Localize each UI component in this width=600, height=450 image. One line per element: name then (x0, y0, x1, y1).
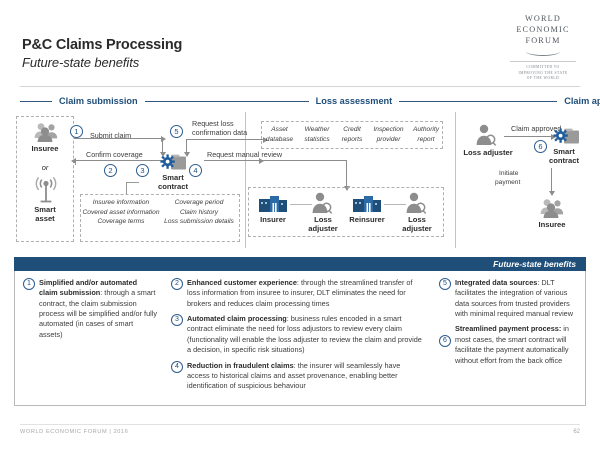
footer-page-number: 62 (573, 429, 580, 435)
loss-adjuster-label-2: Loss adjuster (394, 216, 440, 233)
confirm-coverage-label: Confirm coverage (86, 150, 143, 159)
contract-term-left-2: Covered asset information (82, 208, 160, 218)
benefit-title-5: Integrated data sources (455, 278, 537, 287)
loss-adjuster-label: Loss adjuster (300, 216, 346, 233)
approval-loss-adjuster-icon (474, 124, 498, 146)
benefit-item-3: 3 Automated claim processing: business r… (171, 314, 425, 355)
approval-insuree-label: Insuree (524, 221, 580, 230)
request-loss-down-arrow (186, 139, 187, 153)
contract-term-left-3: Coverage terms (82, 217, 160, 227)
reinsurer-label: Reinsurer (344, 216, 390, 225)
benefit-title-3: Automated claim processing (187, 314, 287, 323)
process-diagram: Insuree or Smart asset 1 Submit claim 5 … (8, 112, 592, 248)
approval-loss-adjuster-label: Loss adjuster (460, 149, 516, 158)
insurer-building-icon (258, 193, 288, 213)
request-loss-label-2: confirmation data (192, 128, 247, 137)
request-manual-review-label: Request manual review (207, 150, 282, 159)
phase-label-2: Loss assessment (309, 96, 400, 106)
logo-tagline-3: OF THE WORLD (504, 76, 582, 81)
data-source-4-line2: provider (368, 135, 409, 145)
benefit-item-2: 2 Enhanced customer experience: through … (171, 278, 425, 309)
step-marker-1: 1 (70, 125, 83, 138)
smart-contract-icon (158, 152, 188, 172)
submit-claim-label: Submit claim (90, 131, 131, 140)
reinsurer-adjuster-link (384, 204, 406, 205)
manual-review-stub (75, 164, 76, 165)
benefits-panel: 1 Simplified and/or automated claim subm… (14, 271, 586, 406)
wef-logo: WORLD ECONOMIC FORUM COMMITTED TO IMPROV… (504, 14, 582, 82)
footer-source: WORLD ECONOMIC FORUM | 2016 (20, 429, 128, 435)
approval-smart-contract-label-2: contract (536, 157, 592, 166)
smart-asset-label-2: asset (16, 215, 74, 224)
logo-swoosh-icon (526, 47, 560, 56)
phase-claim-approval: Claim approval (531, 96, 600, 106)
logo-line-world: WORLD (504, 14, 582, 25)
benefit-number-3: 3 (171, 314, 183, 326)
insurer-adjuster-link (290, 204, 312, 205)
contract-term-right-2: Claim history (160, 208, 238, 218)
benefit-number-5: 5 (439, 278, 451, 290)
slide-page: P&C Claims Processing Future-state benef… (0, 0, 600, 450)
contract-term-right-3: Loss submission details (160, 217, 238, 227)
data-source-2-line1: Weather (298, 125, 336, 135)
benefit-number-1: 1 (23, 278, 35, 290)
insuree-label: Insuree (16, 145, 74, 154)
benefit-title-4: Reduction in fraudulent claims (187, 361, 294, 370)
benefit-item-1: 1 Simplified and/or automated claim subm… (23, 278, 157, 340)
loss-adjuster-icon-2 (404, 192, 428, 214)
contract-term-right-1: Coverage period (160, 198, 238, 208)
page-subtitle: Future-state benefits (22, 55, 182, 70)
initiate-payment-label-2: payment (495, 179, 520, 186)
benefit-title-2: Enhanced customer experience (187, 278, 297, 287)
page-title: P&C Claims Processing (22, 37, 182, 53)
approval-insuree-people-icon (538, 198, 566, 218)
adjuster-connector-horizontal (260, 160, 346, 161)
benefit-number-6: 6 (439, 335, 451, 347)
benefits-header-label: Future-state benefits (493, 259, 576, 269)
slide-header: P&C Claims Processing Future-state benef… (0, 0, 600, 86)
claim-approved-arrow (504, 136, 552, 137)
phase-bar: Claim submission Loss assessment Claim a… (20, 94, 580, 108)
insuree-people-icon (32, 122, 60, 142)
phase-label-1: Claim submission (52, 96, 145, 106)
phase-claim-submission: Claim submission (20, 96, 177, 106)
adjuster-connector-down-arrow (346, 160, 347, 187)
insurer-label: Insurer (250, 216, 296, 225)
data-source-2-line2: statistics (298, 135, 336, 145)
data-source-1-line2: database (261, 135, 298, 145)
benefits-column-1: 1 Simplified and/or automated claim subm… (15, 271, 163, 406)
terms-connector-vertical (126, 182, 127, 194)
logo-line-economic: ECONOMIC (504, 25, 582, 36)
data-source-3-line1: Credit (336, 125, 368, 135)
request-loss-label-1: Request loss (192, 119, 234, 128)
data-source-5-line1: Authority (409, 125, 443, 135)
contract-term-left-1: Insuree information (82, 198, 160, 208)
section-divider-2 (455, 112, 456, 248)
smart-asset-antenna-icon (34, 177, 58, 203)
smart-contract-label-2: contract (144, 183, 202, 192)
logo-divider (510, 61, 576, 62)
benefit-number-4: 4 (171, 361, 183, 373)
step-marker-2: 2 (104, 164, 117, 177)
confirm-coverage-arrow (75, 160, 165, 161)
header-divider (20, 86, 580, 87)
title-block: P&C Claims Processing Future-state benef… (22, 37, 182, 70)
step-marker-5: 5 (170, 125, 183, 138)
loss-adjuster-icon (310, 192, 334, 214)
benefit-number-2: 2 (171, 278, 183, 290)
data-source-1-line1: Asset (261, 125, 298, 135)
or-separator-label: or (16, 163, 74, 172)
logo-line-forum: FORUM (504, 36, 582, 47)
reinsurer-building-icon (352, 193, 382, 213)
initiate-payment-label-1: Initiate (499, 170, 518, 177)
request-loss-arrow (186, 139, 264, 140)
request-manual-review-arrow (204, 160, 260, 161)
benefits-column-2: 2 Enhanced customer experience: through … (163, 271, 431, 406)
data-source-3-line2: reports (336, 135, 368, 145)
benefit-title-6: Streamlined payment process: (455, 324, 561, 333)
benefit-item-6: 6 Streamlined payment process: in most c… (439, 324, 581, 365)
benefits-header-bar: Future-state benefits (14, 257, 586, 271)
benefit-item-5: 5 Integrated data sources: DLT facilitat… (439, 278, 581, 319)
data-source-4-line1: Inspection (368, 125, 409, 135)
submit-claim-down-arrow (162, 138, 163, 153)
smart-contract-icon-2 (551, 126, 581, 146)
phase-label-3: Claim approval (557, 96, 600, 106)
footer-divider (20, 424, 580, 425)
initiate-payment-arrow (551, 168, 552, 192)
phase-loss-assessment: Loss assessment (177, 96, 532, 106)
terms-connector-horizontal (126, 182, 139, 183)
data-source-5-line2: report (409, 135, 443, 145)
benefit-item-4: 4 Reduction in fraudulent claims: the in… (171, 361, 425, 392)
benefits-column-3: 5 Integrated data sources: DLT facilitat… (431, 271, 587, 406)
